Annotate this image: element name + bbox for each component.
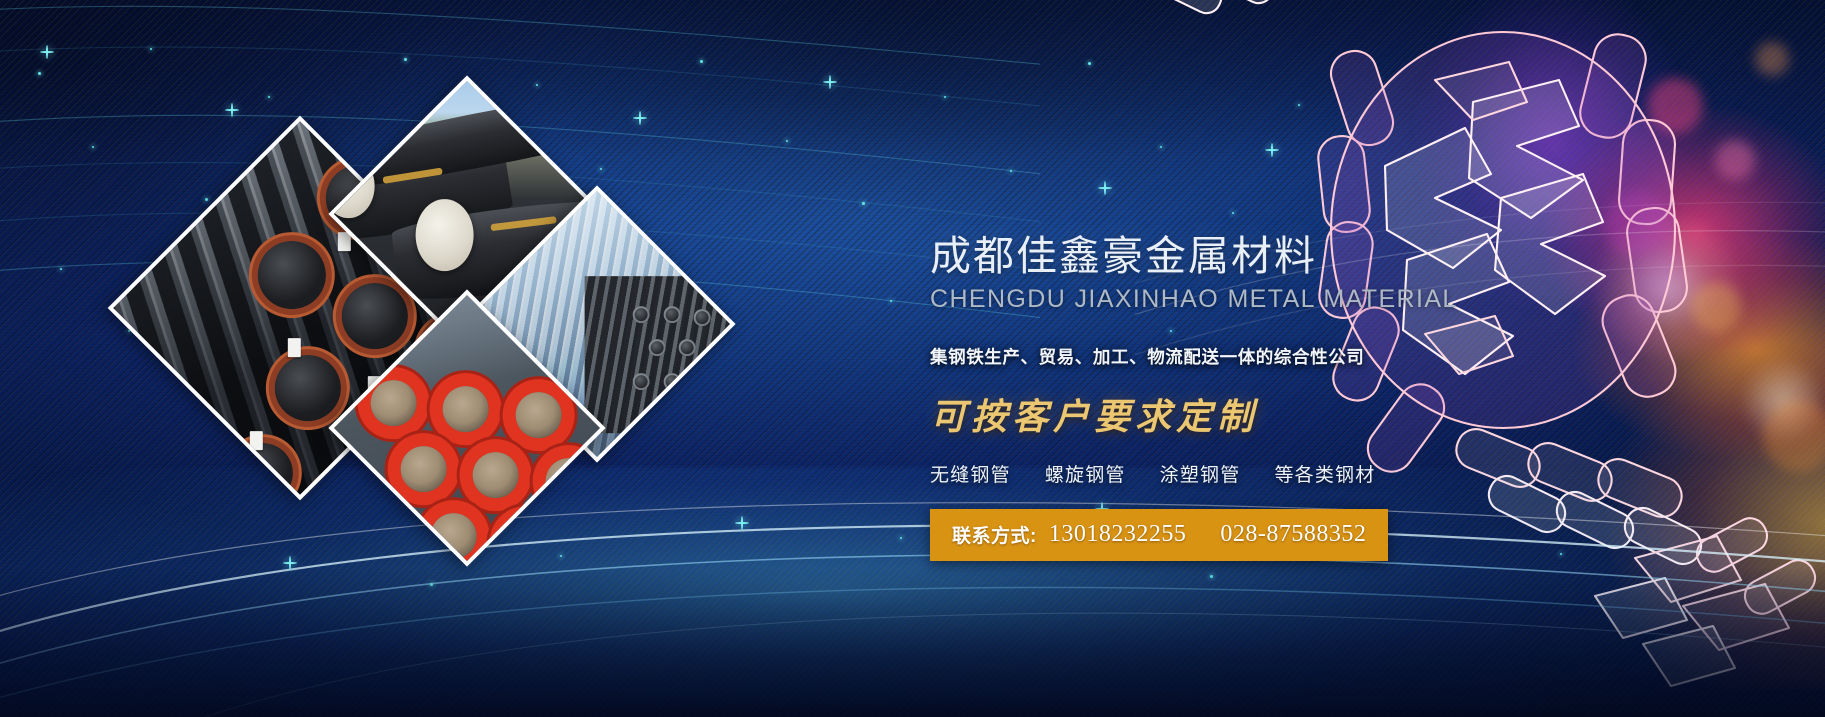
product-item-seamless: 无缝钢管 (930, 460, 1011, 487)
product-photo-collage (146, 108, 766, 578)
company-name-chinese: 成都佳鑫豪金属材料 (930, 235, 1490, 278)
contact-landline-number[interactable]: 028-87588352 (1220, 521, 1366, 548)
promotional-banner: 成都佳鑫豪金属材料 CHENGDU JIAXINHAO METAL MATERI… (0, 0, 1825, 717)
bottom-shadow (0, 567, 1825, 717)
contact-mobile-number[interactable]: 13018232255 (1049, 521, 1187, 548)
company-name-english: CHENGDU JIAXINHAO METAL MATERIAL (930, 285, 1490, 314)
product-item-coated: 涂塑钢管 (1160, 460, 1241, 487)
company-tagline: 集钢铁生产、贸易、加工、物流配送一体的综合性公司 (930, 344, 1490, 369)
banner-text-block: 成都佳鑫豪金属材料 CHENGDU JIAXINHAO METAL MATERI… (930, 235, 1490, 561)
contact-bar[interactable]: 联系方式: 13018232255 028-87588352 (930, 509, 1388, 561)
product-item-others: 等各类钢材 (1274, 460, 1375, 487)
custom-order-slogan: 可按客户要求定制 (930, 388, 1490, 440)
product-item-spiral: 螺旋钢管 (1045, 460, 1126, 487)
contact-label: 联系方式: (952, 521, 1037, 548)
product-list: 无缝钢管 螺旋钢管 涂塑钢管 等各类钢材 (930, 460, 1490, 487)
